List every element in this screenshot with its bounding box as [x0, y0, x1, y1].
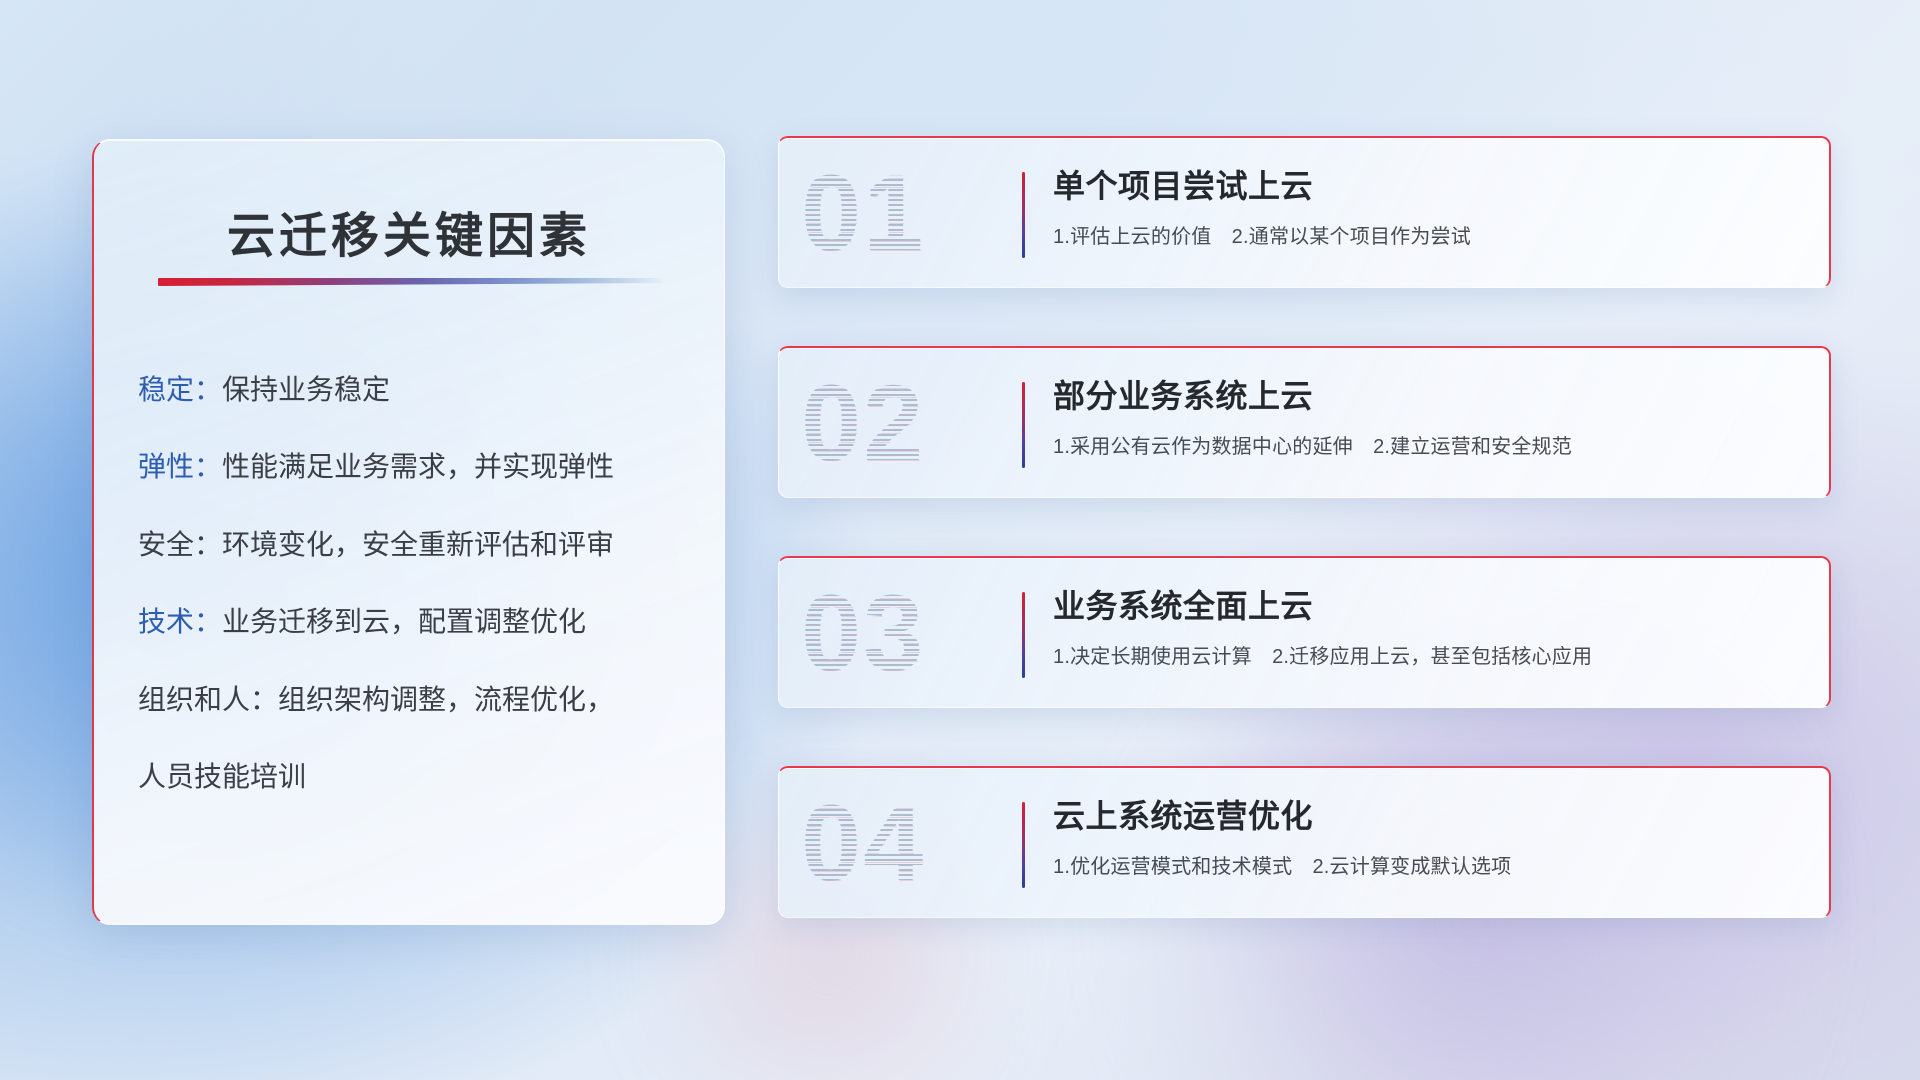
page-title: 云迁移关键因素 — [94, 196, 724, 266]
step-title: 单个项目尝试上云 — [1053, 166, 1805, 206]
step-content: 部分业务系统上云 1.采用公有云作为数据中心的延伸 2.建立运营和安全规范 — [1053, 376, 1805, 459]
step-divider — [1022, 172, 1025, 258]
step-description: 1.评估上云的价值 2.通常以某个项目作为尝试 — [1053, 220, 1805, 249]
key-factors-panel: 云迁移关键因素 稳定：保持业务稳定 弹性：性能满足业务需求，并实现弹性 安全：环… — [92, 139, 725, 925]
step-divider — [1022, 382, 1025, 468]
factor-value: 组织架构调整，流程优化， — [278, 684, 614, 715]
factor-label: 技术： — [138, 606, 222, 637]
factor-label: 组织和人： — [138, 684, 278, 715]
factor-value: 保持业务稳定 — [222, 374, 390, 405]
step-description: 1.采用公有云作为数据中心的延伸 2.建立运营和安全规范 — [1053, 430, 1805, 459]
migration-steps-list: 01 单个项目尝试上云 1.评估上云的价值 2.通常以某个项目作为尝试 02 部… — [778, 136, 1831, 918]
step-content: 单个项目尝试上云 1.评估上云的价值 2.通常以某个项目作为尝试 — [1053, 166, 1805, 249]
factor-label: 弹性： — [138, 451, 222, 482]
factor-label: 稳定： — [138, 374, 222, 405]
slide-stage: 云迁移关键因素 稳定：保持业务稳定 弹性：性能满足业务需求，并实现弹性 安全：环… — [0, 0, 1920, 1080]
step-divider — [1022, 802, 1025, 888]
step-title: 业务系统全面上云 — [1053, 586, 1805, 626]
step-title: 部分业务系统上云 — [1053, 376, 1805, 416]
step-description: 1.决定长期使用云计算 2.迁移应用上云，甚至包括核心应用 — [1053, 640, 1805, 669]
step-number-watermark: 03 — [801, 579, 925, 687]
step-card[interactable]: 04 云上系统运营优化 1.优化运营模式和技术模式 2.云计算变成默认选项 — [778, 766, 1831, 918]
step-title: 云上系统运营优化 — [1053, 796, 1805, 836]
key-factors-list: 稳定：保持业务稳定 弹性：性能满足业务需求，并实现弹性 安全：环境变化，安全重新… — [138, 368, 694, 798]
factor-value: 人员技能培训 — [138, 761, 306, 792]
list-item: 稳定：保持业务稳定 — [138, 368, 694, 411]
step-card[interactable]: 03 业务系统全面上云 1.决定长期使用云计算 2.迁移应用上云，甚至包括核心应… — [778, 556, 1831, 708]
factor-label: 安全： — [138, 529, 222, 560]
step-number-watermark: 02 — [801, 369, 925, 477]
title-underline-gradient — [158, 278, 663, 286]
step-card[interactable]: 02 部分业务系统上云 1.采用公有云作为数据中心的延伸 2.建立运营和安全规范 — [778, 346, 1831, 498]
list-item: 组织和人：组织架构调整，流程优化， — [138, 678, 694, 721]
step-description: 1.优化运营模式和技术模式 2.云计算变成默认选项 — [1053, 850, 1805, 879]
step-number-watermark: 04 — [801, 789, 925, 897]
step-content: 云上系统运营优化 1.优化运营模式和技术模式 2.云计算变成默认选项 — [1053, 796, 1805, 879]
factor-value: 业务迁移到云，配置调整优化 — [222, 606, 586, 637]
list-item: 弹性：性能满足业务需求，并实现弹性 — [138, 445, 694, 488]
list-item: 技术：业务迁移到云，配置调整优化 — [138, 600, 694, 643]
list-item: 人员技能培训 — [138, 755, 694, 798]
step-content: 业务系统全面上云 1.决定长期使用云计算 2.迁移应用上云，甚至包括核心应用 — [1053, 586, 1805, 669]
factor-value: 性能满足业务需求，并实现弹性 — [222, 451, 614, 482]
factor-value: 环境变化，安全重新评估和评审 — [222, 529, 614, 560]
step-divider — [1022, 592, 1025, 678]
list-item: 安全：环境变化，安全重新评估和评审 — [138, 523, 694, 566]
step-card[interactable]: 01 单个项目尝试上云 1.评估上云的价值 2.通常以某个项目作为尝试 — [778, 136, 1831, 288]
step-number-watermark: 01 — [801, 159, 925, 267]
